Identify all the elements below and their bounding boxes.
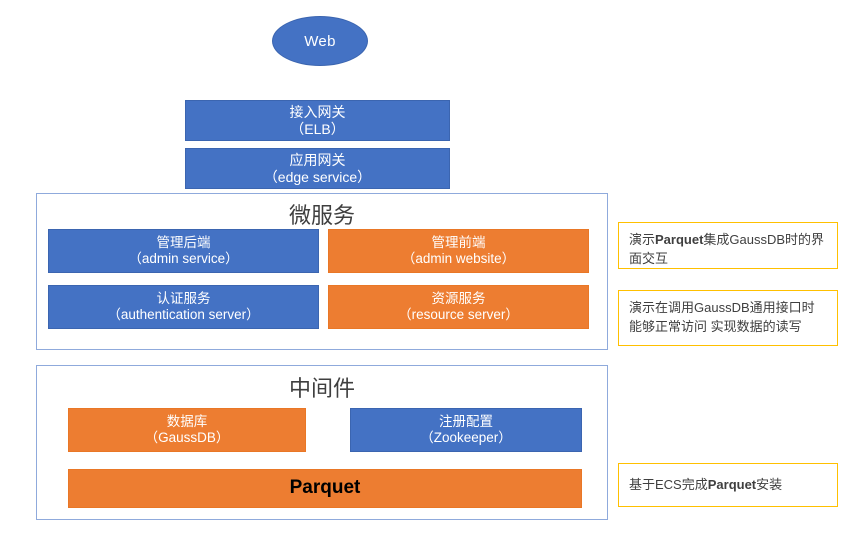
node-database-subtitle: （GaussDB） — [145, 430, 230, 446]
node-admin-service-title: 管理后端 — [157, 235, 211, 251]
callout-ui-demo-bold: Parquet — [655, 232, 703, 247]
node-application-gateway-title: 应用网关 — [290, 152, 346, 168]
callout-api-demo: 演示在调用GaussDB通用接口时能够正常访问 实现数据的读写 — [618, 290, 838, 346]
node-parquet-label: Parquet — [290, 477, 361, 499]
callout-ecs-install-after: 安装 — [756, 477, 782, 492]
node-application-gateway[interactable]: 应用网关 （edge service） — [185, 148, 450, 189]
node-resource-server-subtitle: （resource server） — [398, 307, 519, 323]
callout-ecs-install-wrap: 基于ECS完成Parquet安装 — [629, 476, 782, 495]
node-authentication-server-title: 认证服务 — [157, 291, 211, 307]
architecture-diagram: Web 接入网关 （ELB） 应用网关 （edge service） 微服务 管… — [0, 0, 865, 542]
node-access-gateway[interactable]: 接入网关 （ELB） — [185, 100, 450, 141]
node-resource-server[interactable]: 资源服务 （resource server） — [328, 285, 589, 329]
callout-api-demo-text: 演示在调用GaussDB通用接口时能够正常访问 实现数据的读写 — [629, 300, 815, 334]
node-web-label: Web — [304, 33, 335, 50]
node-admin-service-subtitle: （admin service） — [128, 251, 238, 267]
group-middleware: 中间件 数据库 （GaussDB） 注册配置 （Zookeeper） Parqu… — [36, 365, 608, 520]
callout-ecs-install-bold: Parquet — [708, 477, 756, 492]
node-parquet[interactable]: Parquet — [68, 469, 582, 508]
node-resource-server-title: 资源服务 — [432, 291, 486, 307]
callout-ui-demo-before: 演示 — [629, 232, 655, 247]
node-database-title: 数据库 — [167, 414, 208, 430]
node-web[interactable]: Web — [272, 16, 368, 66]
node-admin-website[interactable]: 管理前端 （admin website） — [328, 229, 589, 273]
group-middleware-title: 中间件 — [37, 378, 607, 400]
node-admin-website-title: 管理前端 — [432, 235, 486, 251]
node-admin-website-subtitle: （admin website） — [402, 251, 515, 267]
node-database-gaussdb[interactable]: 数据库 （GaussDB） — [68, 408, 306, 452]
node-application-gateway-subtitle: （edge service） — [264, 169, 371, 185]
node-authentication-server[interactable]: 认证服务 （authentication server） — [48, 285, 319, 329]
callout-ecs-install: 基于ECS完成Parquet安装 — [618, 463, 838, 507]
node-admin-service[interactable]: 管理后端 （admin service） — [48, 229, 319, 273]
node-registry-zookeeper[interactable]: 注册配置 （Zookeeper） — [350, 408, 582, 452]
node-registry-title: 注册配置 — [439, 414, 493, 430]
callout-ecs-install-before: 基于ECS完成 — [629, 477, 708, 492]
node-access-gateway-title: 接入网关 — [290, 104, 346, 120]
node-authentication-server-subtitle: （authentication server） — [107, 307, 259, 323]
group-microservice-title: 微服务 — [37, 205, 607, 227]
group-microservice: 微服务 管理后端 （admin service） 管理前端 （admin web… — [36, 193, 608, 350]
callout-ui-demo: 演示Parquet集成GaussDB时的界面交互 — [618, 222, 838, 269]
node-registry-subtitle: （Zookeeper） — [420, 430, 512, 446]
node-access-gateway-subtitle: （ELB） — [290, 121, 344, 137]
